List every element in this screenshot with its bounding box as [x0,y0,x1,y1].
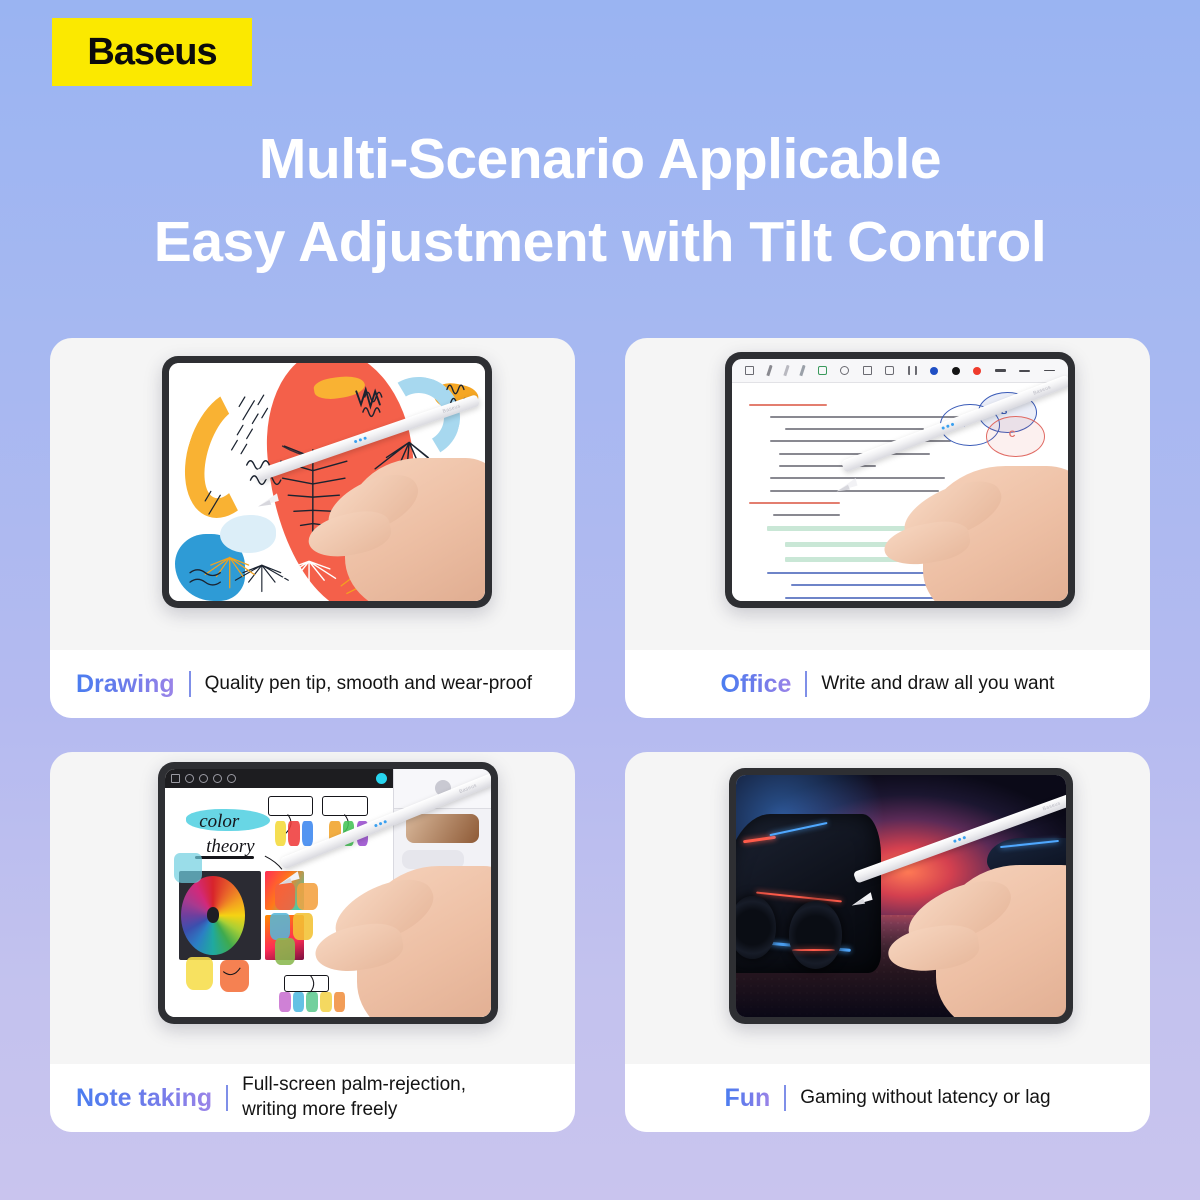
caption-note-taking: Note taking Full-screen palm-rejection, … [50,1064,575,1132]
caption-title-fun: Fun [724,1084,770,1113]
tablet-device-fun: Baseus [729,768,1073,1024]
caption-description-fun: Gaming without latency or lag [800,1086,1050,1111]
stylus-tip-office [732,359,1068,601]
headline-line-2: Easy Adjustment with Tilt Control [0,201,1200,284]
headline-line-1: Multi-Scenario Applicable [0,118,1200,201]
feature-card-drawing[interactable]: Baseus Drawing Quality pen tip, smooth a… [50,338,575,718]
office-scene: A B C Bas [625,338,1150,650]
stylus-tip-note-taking [165,769,491,1017]
caption-divider [226,1085,228,1111]
caption-title-office: Office [721,670,792,699]
feature-card-grid: Baseus Drawing Quality pen tip, smooth a… [50,338,1150,1132]
tablet-device-note-taking: color theory [158,762,498,1024]
tablet-screen-note-taking: color theory [165,769,491,1017]
caption-fun: Fun Gaming without latency or lag [625,1064,1150,1132]
drawing-scene: Baseus [50,338,575,650]
brand-logo-text: Baseus [87,31,216,74]
stylus-tip-fun [736,775,1066,1017]
brand-logo-badge: Baseus [52,18,252,86]
tablet-device-drawing: Baseus [162,356,492,608]
tablet-screen-office: A B C Bas [732,359,1068,601]
stylus-tip-drawing [169,363,485,601]
page-headline: Multi-Scenario Applicable Easy Adjustmen… [0,118,1200,284]
caption-title-note-taking: Note taking [76,1084,212,1113]
note-taking-scene: color theory [50,752,575,1064]
caption-description-office: Write and draw all you want [821,672,1054,697]
fun-scene: Baseus [625,752,1150,1064]
caption-divider [805,671,807,697]
caption-drawing: Drawing Quality pen tip, smooth and wear… [50,650,575,718]
feature-card-note-taking[interactable]: color theory [50,752,575,1132]
caption-office: Office Write and draw all you want [625,650,1150,718]
caption-description-note-taking: Full-screen palm-rejection, writing more… [242,1073,466,1122]
feature-card-fun[interactable]: Baseus Fun Gaming without latency or lag [625,752,1150,1132]
caption-title-drawing: Drawing [76,670,175,699]
caption-description-drawing: Quality pen tip, smooth and wear-proof [205,672,532,697]
tablet-screen-fun: Baseus [736,775,1066,1017]
caption-divider [189,671,191,697]
tablet-screen-drawing: Baseus [169,363,485,601]
caption-divider [784,1085,786,1111]
tablet-device-office: A B C Bas [725,352,1075,608]
feature-card-office[interactable]: A B C Bas [625,338,1150,718]
